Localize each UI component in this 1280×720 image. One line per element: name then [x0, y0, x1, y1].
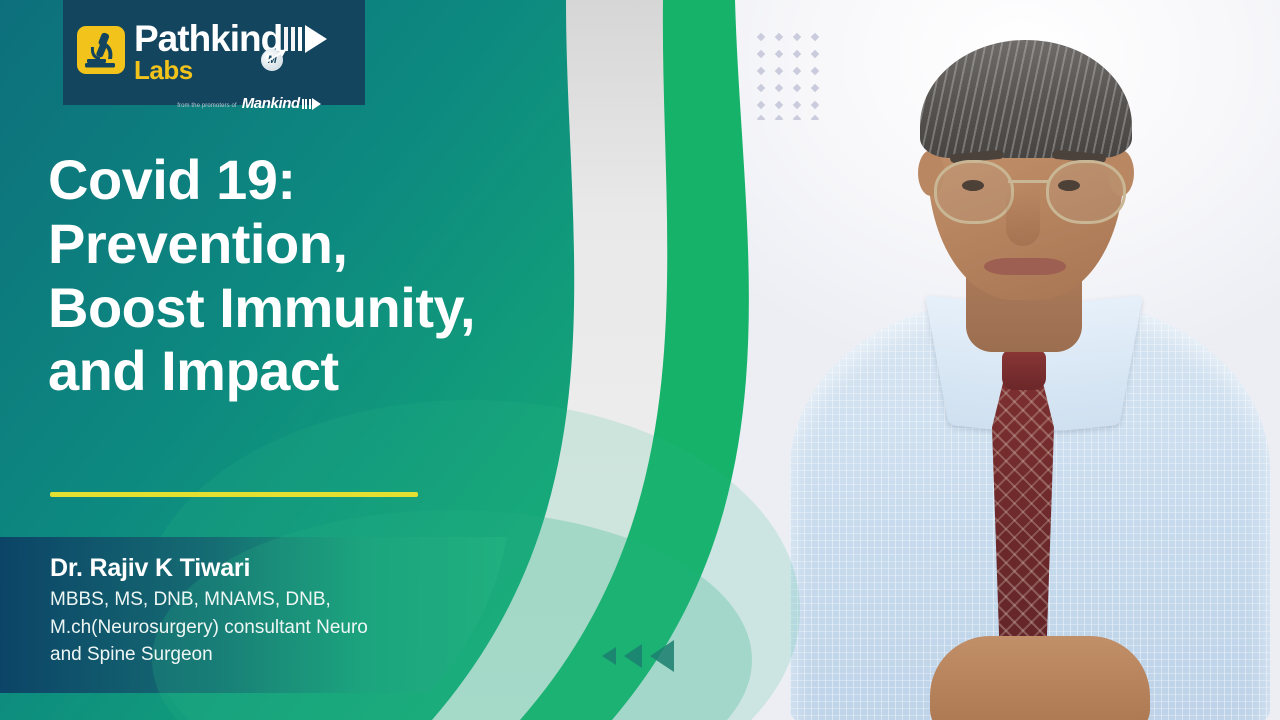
microscope-icon: [77, 26, 125, 74]
logo-bars-icon: [284, 27, 305, 51]
title-divider: [50, 492, 418, 497]
logo-arrow-icon: [305, 25, 327, 53]
left-arrow-large-icon: [650, 640, 674, 672]
mankind-bars-icon: [302, 99, 313, 109]
triple-left-arrow-icon: [602, 640, 674, 672]
pathkind-logo-panel[interactable]: Pathkind Labs from the promoters of Mank…: [63, 0, 365, 105]
endorsement-prefix: from the promoters of: [177, 103, 236, 111]
logo-wordmark-primary: Pathkind: [134, 22, 282, 56]
mankind-endorsement: from the promoters of Mankind: [177, 96, 321, 111]
logo-wordmark-secondary: Labs: [134, 57, 327, 83]
mankind-wordmark: Mankind: [242, 96, 300, 111]
left-arrow-small-icon: [602, 647, 616, 665]
page-title: Covid 19: Prevention, Boost Immunity, an…: [48, 148, 708, 403]
mankind-arrow-icon: [312, 98, 321, 110]
speaker-name: Dr. Rajiv K Tiwari: [50, 554, 250, 583]
speaker-credentials: MBBS, MS, DNB, MNAMS, DNB, M.ch(Neurosur…: [50, 586, 530, 669]
video-thumbnail: Pathkind Labs from the promoters of Mank…: [0, 0, 1280, 720]
left-arrow-medium-icon: [624, 644, 642, 668]
